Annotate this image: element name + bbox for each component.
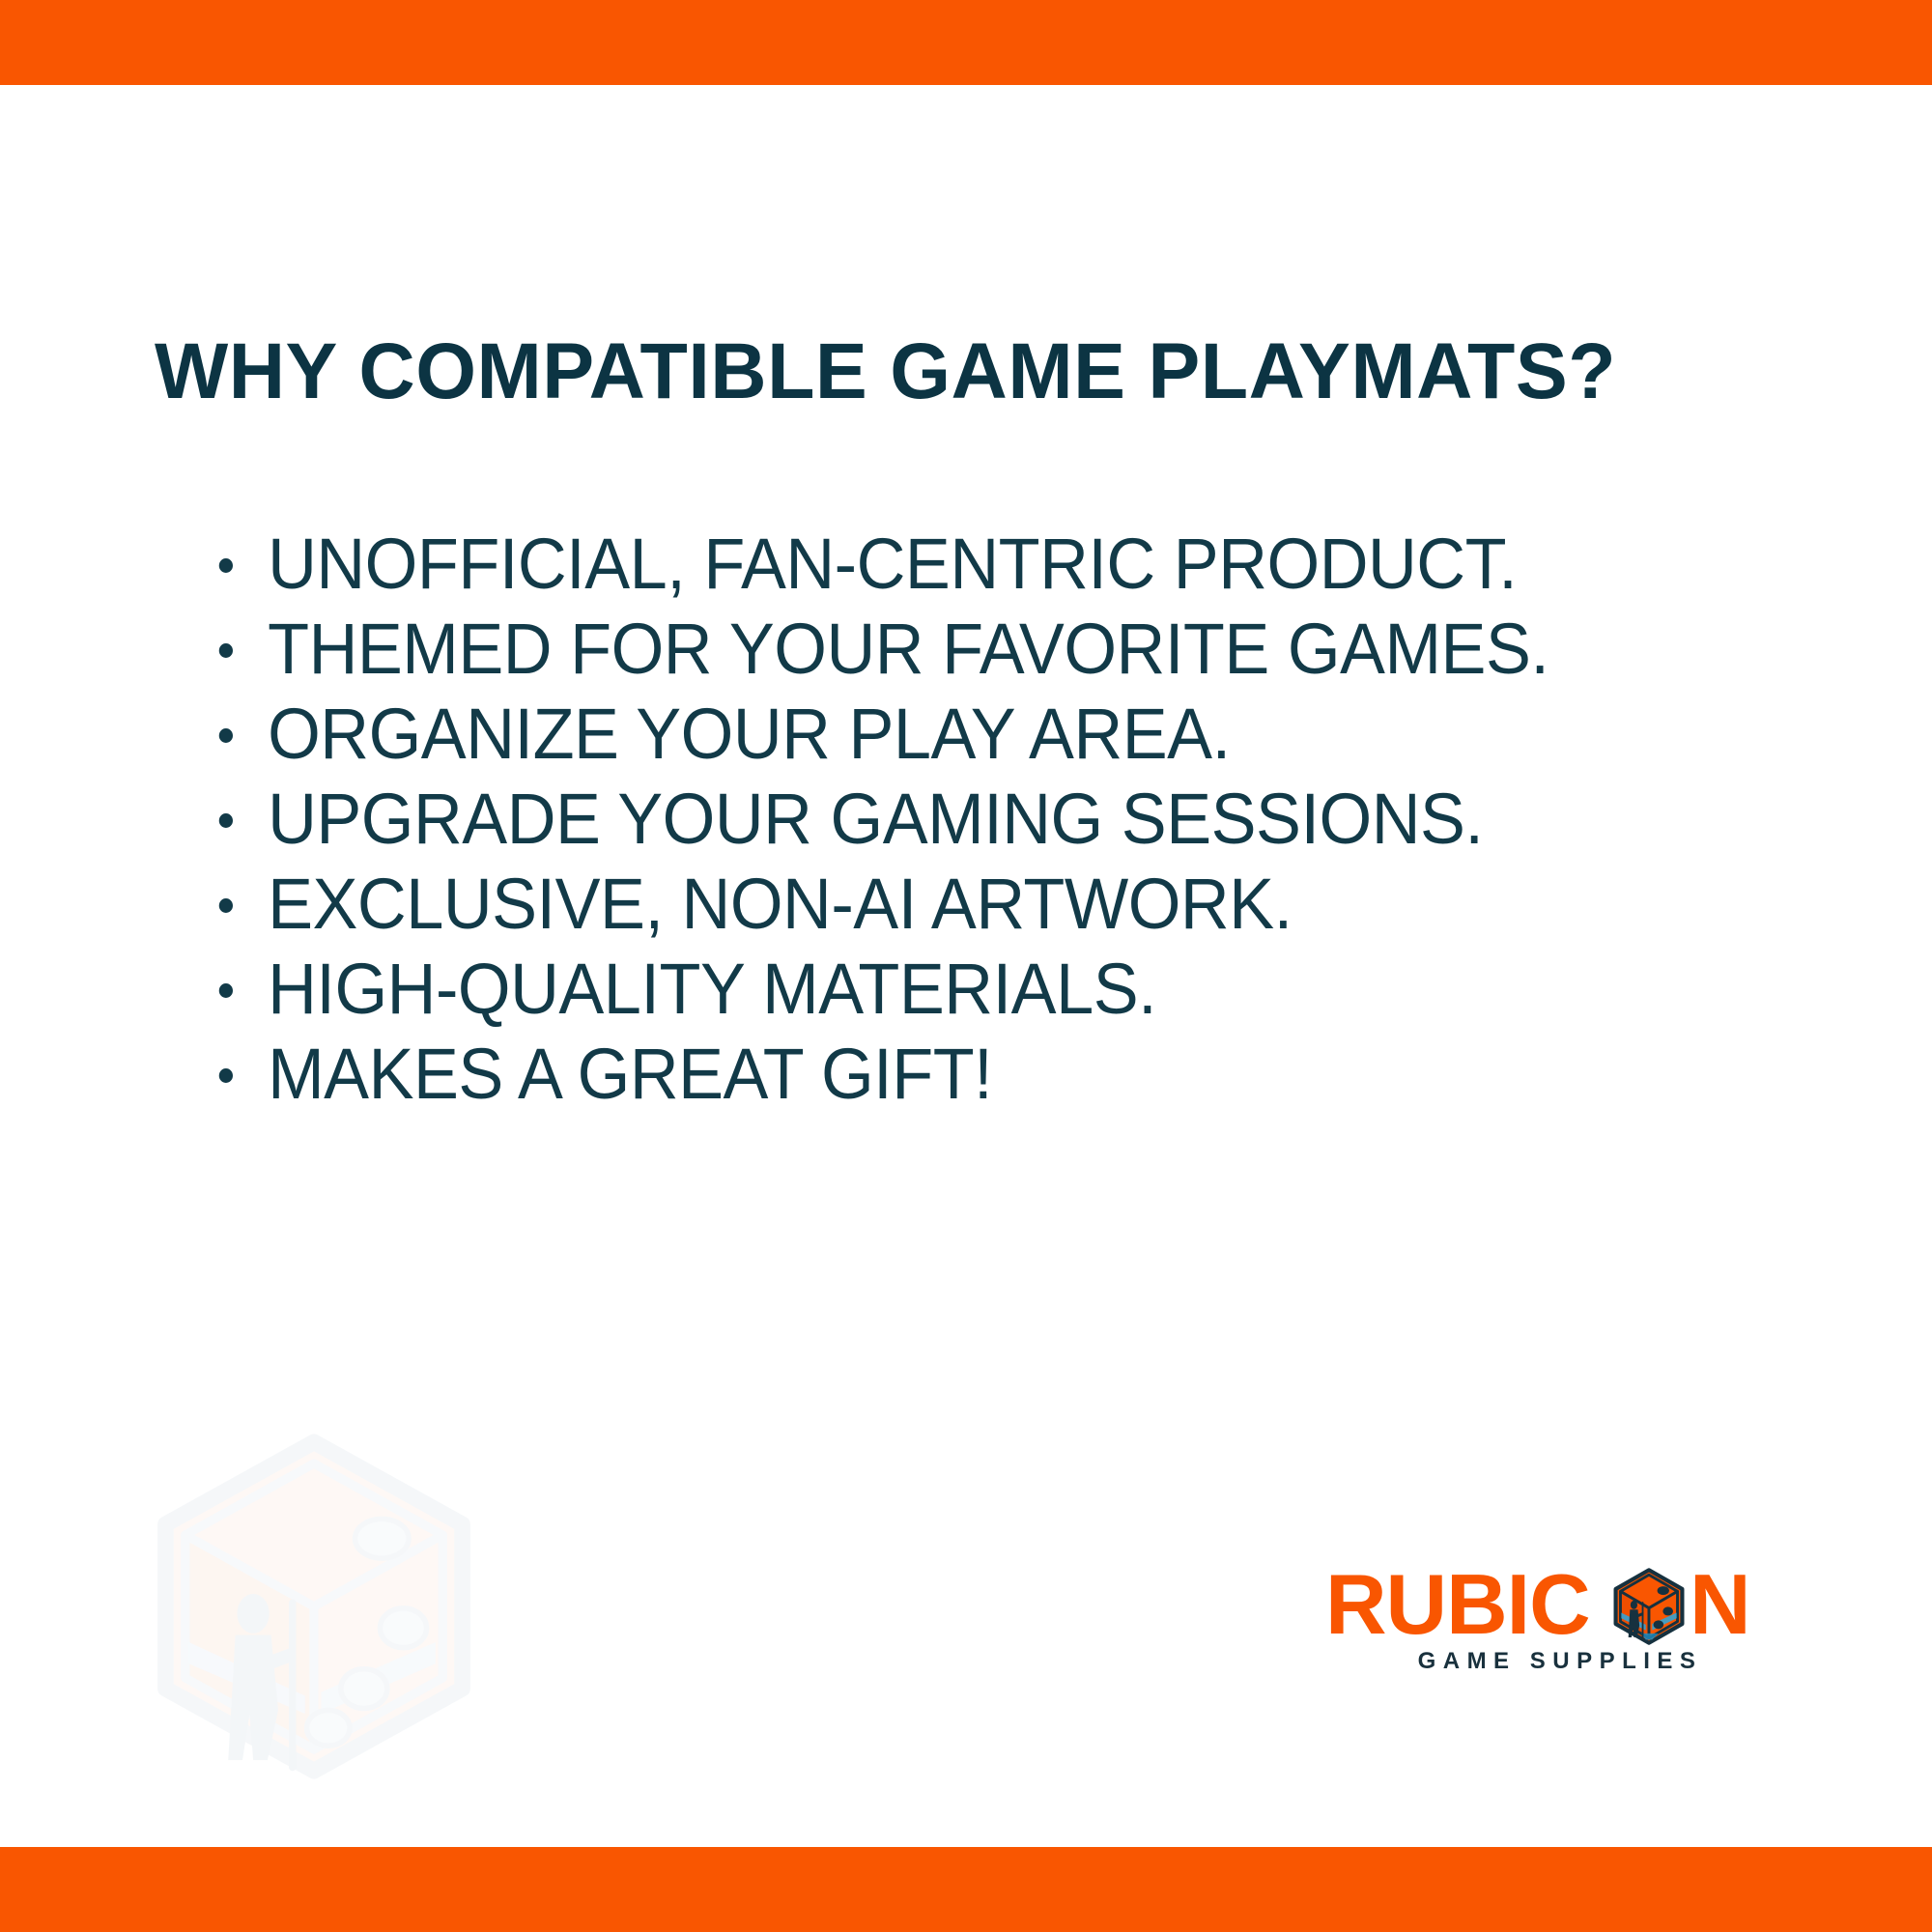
list-item-label: ORGANIZE YOUR PLAY AREA. xyxy=(268,694,1231,774)
top-accent-bar xyxy=(0,0,1932,85)
bullet-dot-icon xyxy=(219,898,233,913)
brand-logo: RUBIC xyxy=(1325,1563,1770,1679)
list-item-label: MAKES A GREAT GIFT! xyxy=(268,1034,992,1114)
list-item: HIGH-QUALITY MATERIALS. xyxy=(214,947,1775,1032)
list-item-label: THEMED FOR YOUR FAVORITE GAMES. xyxy=(268,609,1548,689)
list-item-label: UNOFFICIAL, FAN-CENTRIC PRODUCT. xyxy=(268,524,1517,604)
list-item: EXCLUSIVE, NON-AI ARTWORK. xyxy=(214,862,1775,947)
list-item-label: HIGH-QUALITY MATERIALS. xyxy=(268,949,1156,1029)
bottom-accent-bar xyxy=(0,1847,1932,1932)
promo-graphic: WHY COMPATIBLE GAME PLAYMATS? UNOFFICIAL… xyxy=(0,0,1932,1932)
brand-wordmark-left: RUBIC xyxy=(1325,1563,1590,1646)
bullet-dot-icon xyxy=(219,728,233,743)
list-item-label: UPGRADE YOUR GAMING SESSIONS. xyxy=(268,779,1483,859)
page-title: WHY COMPATIBLE GAME PLAYMATS? xyxy=(155,326,1810,418)
bullet-dot-icon xyxy=(219,813,233,828)
list-item: UPGRADE YOUR GAMING SESSIONS. xyxy=(214,777,1775,862)
bullet-dot-icon xyxy=(219,643,233,658)
list-item-label: EXCLUSIVE, NON-AI ARTWORK. xyxy=(268,864,1293,944)
dice-watermark-icon xyxy=(135,1428,493,1785)
bullet-dot-icon xyxy=(219,983,233,998)
list-item: UNOFFICIAL, FAN-CENTRIC PRODUCT. xyxy=(214,522,1775,607)
list-item: THEMED FOR YOUR FAVORITE GAMES. xyxy=(214,607,1775,692)
feature-list: UNOFFICIAL, FAN-CENTRIC PRODUCT. THEMED … xyxy=(214,522,1857,1117)
bullet-dot-icon xyxy=(219,558,233,573)
bullet-dot-icon xyxy=(219,1068,233,1083)
dice-logo-icon xyxy=(1609,1567,1689,1646)
list-item: ORGANIZE YOUR PLAY AREA. xyxy=(214,692,1775,777)
list-item: MAKES A GREAT GIFT! xyxy=(214,1032,1775,1117)
brand-tagline: GAME SUPPLIES xyxy=(1372,1648,1748,1675)
brand-wordmark-right: N xyxy=(1690,1563,1750,1646)
